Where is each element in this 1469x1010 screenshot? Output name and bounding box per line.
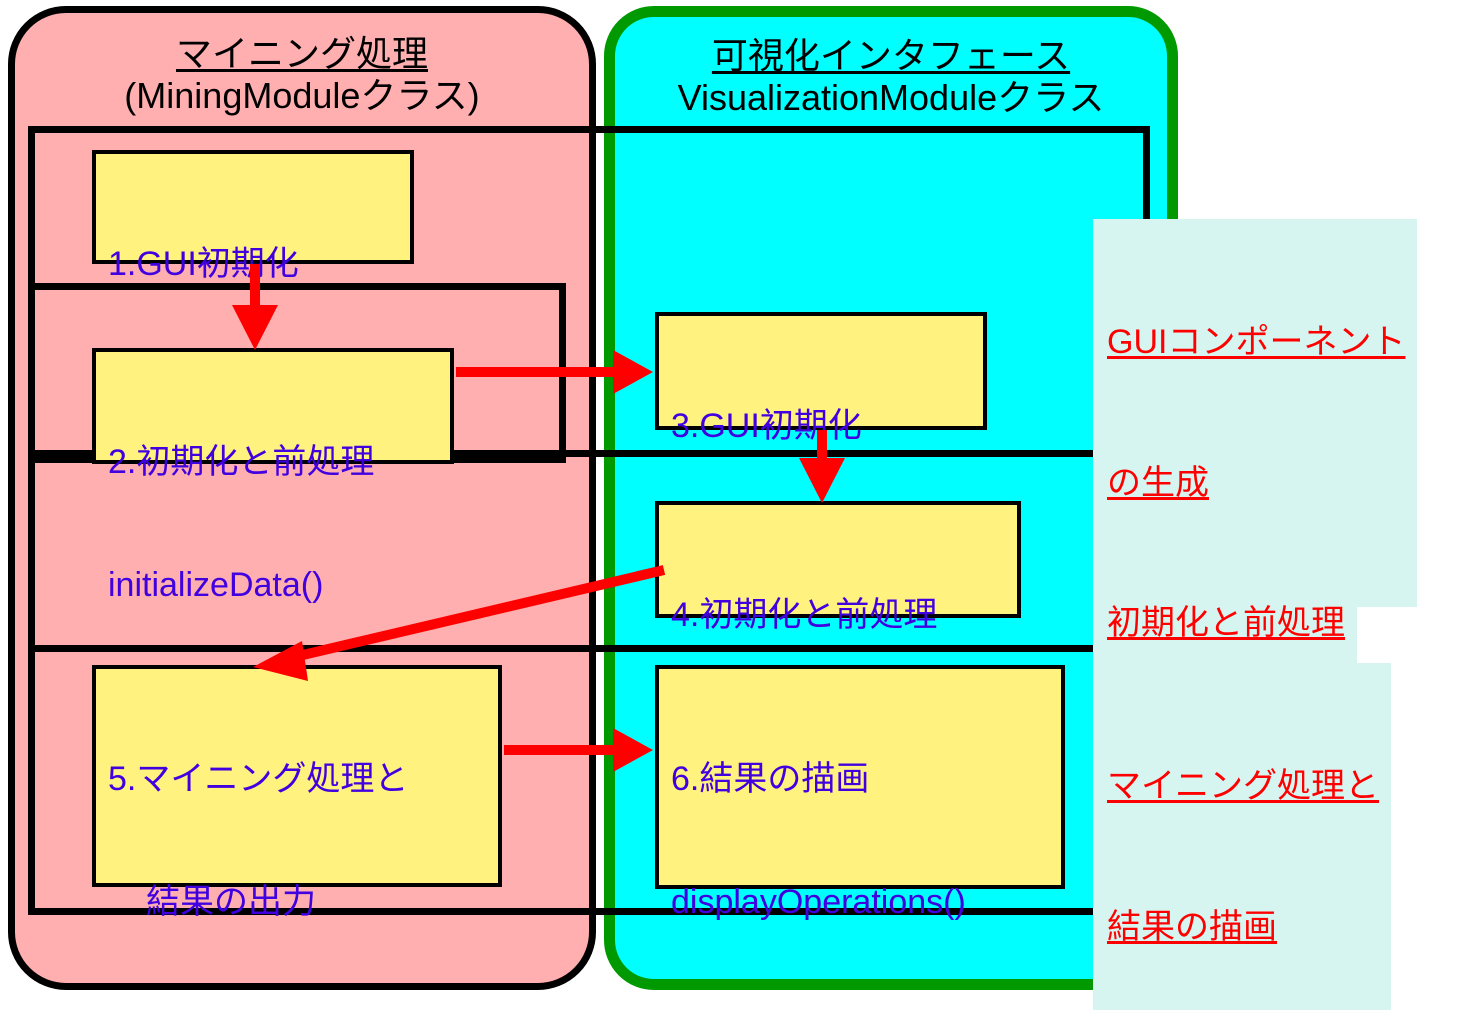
annotation-2-line1: 初期化と前処理 xyxy=(1107,600,1345,647)
diagram-canvas: マイニング処理 (MiningModuleクラス) 可視化インタフェース Vis… xyxy=(0,0,1469,1010)
annotation-3-line1: マイニング処理と xyxy=(1107,763,1379,810)
arrow-2-to-3 xyxy=(456,350,653,394)
annotation-3-line2: 結果の描画 xyxy=(1107,904,1379,951)
arrow-3-to-4 xyxy=(799,430,845,503)
arrow-5-to-6 xyxy=(504,728,653,772)
arrow-4-to-5 xyxy=(253,570,664,681)
annotation-1-line1: GUIコンポーネント xyxy=(1107,319,1405,366)
annotation-mining-and-drawing: マイニング処理と 結果の描画 xyxy=(1093,663,1391,1010)
arrow-1-to-2 xyxy=(232,264,278,350)
